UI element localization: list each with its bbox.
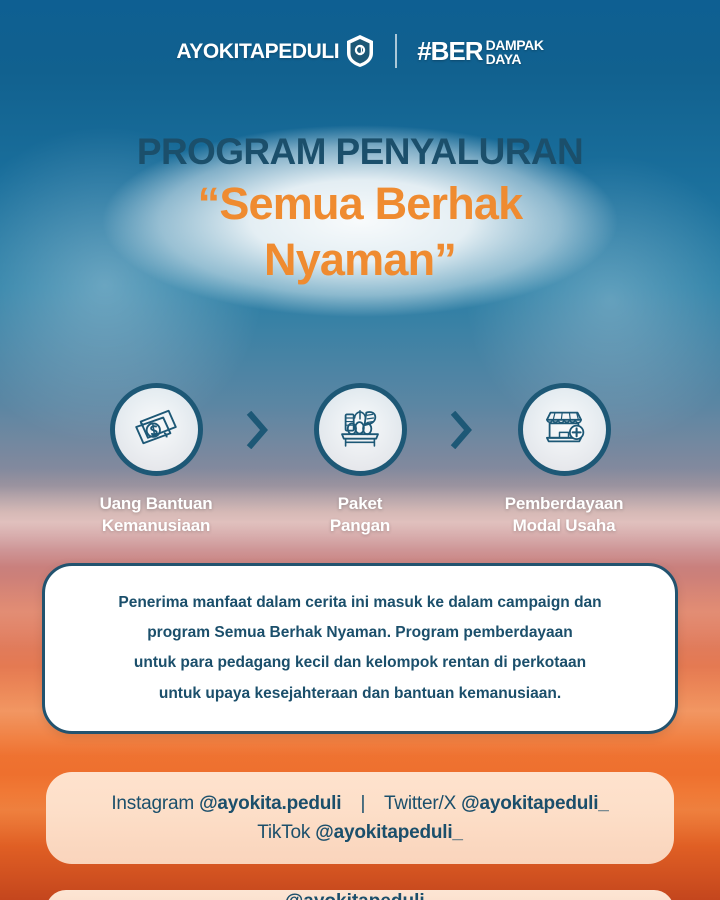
- step-icon-circle: [314, 383, 407, 476]
- step-pemberdayaan-modal: Pemberdayaan Modal Usaha: [484, 383, 644, 537]
- storefront-plus-icon: [537, 400, 591, 459]
- description-line-2: program Semua Berhak Nyaman. Program pem…: [118, 618, 601, 648]
- next-slide-peek: @ayokitapeduli_: [46, 890, 674, 900]
- step-label-pemberdayaan-modal: Pemberdayaan Modal Usaha: [505, 493, 624, 537]
- description-text: Penerima manfaat dalam cerita ini masuk …: [118, 588, 601, 709]
- step-label-line2: Pangan: [330, 515, 390, 537]
- tiktok-handle[interactable]: @ayokitapeduli_: [315, 822, 463, 843]
- next-slide-peek-text: @ayokitapeduli_: [46, 890, 674, 900]
- chevron-right-icon-2: [440, 383, 484, 476]
- tiktok-label: TikTok: [257, 822, 310, 843]
- twitter-handle[interactable]: @ayokitapeduli_: [461, 793, 609, 814]
- description-line-4: untuk upaya kesejahteraan dan bantuan ke…: [118, 679, 601, 709]
- shield-logo-icon: [345, 34, 375, 68]
- brand-divider: [395, 34, 397, 68]
- social-row-secondary: TikTok @ayokitapeduli_: [257, 818, 463, 847]
- instagram-label: Instagram: [111, 793, 194, 814]
- title-quote-line1: “Semua Berhak: [0, 179, 720, 229]
- food-stall-icon: [333, 400, 387, 459]
- ayokitapeduli-logo: AYOKITAPEDULI: [176, 34, 375, 68]
- title-quote-line2: Nyaman”: [0, 235, 720, 285]
- step-icon-circle: [110, 383, 203, 476]
- poster-canvas: AYOKITAPEDULI #BER DAMPAK DAYA PROGRAM P: [0, 0, 720, 900]
- page-title: PROGRAM PENYALURAN: [0, 132, 720, 173]
- chevron-right-icon-1: [236, 383, 280, 476]
- description-line-3: untuk para pedagang kecil dan kelompok r…: [118, 648, 601, 678]
- hashtag-stack: DAMPAK DAYA: [486, 37, 544, 66]
- instagram-handle[interactable]: @ayokita.peduli: [199, 793, 341, 814]
- hashtag-daya: DAYA: [486, 52, 544, 66]
- social-row-primary: Instagram @ayokita.peduli | Twitter/X @a…: [111, 789, 608, 818]
- step-icon-circle: [518, 383, 611, 476]
- hashtag-dampak: DAMPAK: [486, 38, 544, 52]
- step-label-paket-pangan: Paket Pangan: [330, 493, 390, 537]
- brand-header: AYOKITAPEDULI #BER DAMPAK DAYA: [0, 34, 720, 68]
- brand-wordmark: AYOKITAPEDULI: [176, 41, 339, 62]
- title-block: PROGRAM PENYALURAN “Semua Berhak Nyaman”: [0, 132, 720, 285]
- step-label-uang-bantuan: Uang Bantuan Kemanusiaan: [100, 493, 213, 537]
- step-label-line2: Kemanusiaan: [100, 515, 213, 537]
- hashtag-lockup: #BER DAMPAK DAYA: [417, 37, 543, 66]
- step-uang-bantuan: Uang Bantuan Kemanusiaan: [76, 383, 236, 537]
- step-label-line2: Modal Usaha: [505, 515, 624, 537]
- description-card: Penerima manfaat dalam cerita ini masuk …: [42, 563, 678, 734]
- twitter-label: Twitter/X: [384, 793, 456, 814]
- description-line-1: Penerima manfaat dalam cerita ini masuk …: [118, 588, 601, 618]
- step-label-line1: Pemberdayaan: [505, 493, 624, 515]
- program-steps: Uang Bantuan Kemanusiaan: [0, 383, 720, 537]
- banknotes-money-icon: [129, 400, 183, 459]
- hashtag-ber: #BER: [417, 38, 482, 64]
- social-footer-card: Instagram @ayokita.peduli | Twitter/X @a…: [46, 772, 674, 864]
- step-paket-pangan: Paket Pangan: [280, 383, 440, 537]
- step-label-line1: Uang Bantuan: [100, 493, 213, 515]
- step-label-line1: Paket: [330, 493, 390, 515]
- social-separator: |: [346, 793, 379, 814]
